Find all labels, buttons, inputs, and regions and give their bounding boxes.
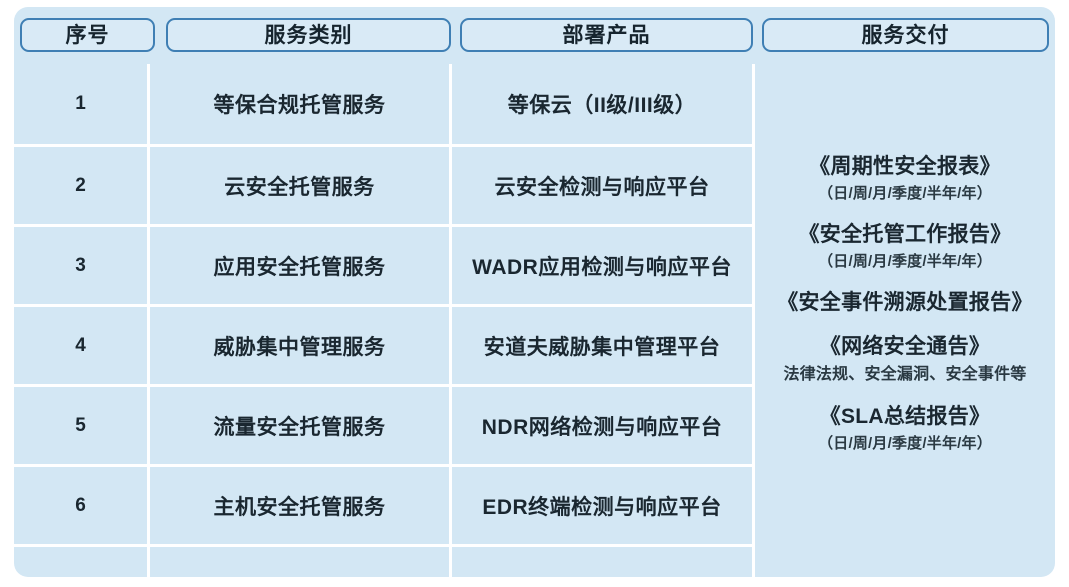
table-row: 3 — [14, 227, 147, 304]
table-row: 6 — [14, 467, 147, 544]
table-row: 4 — [14, 307, 147, 384]
service-delivery-table: 序号 服务类别 部署产品 服务交付 1 等保合规托管服务 等保 — [14, 7, 1055, 577]
cell-category-label: 主机安全托管服务 — [214, 491, 386, 521]
grid-hline-6 — [14, 544, 752, 547]
cell-index: 3 — [75, 255, 86, 277]
cell-category-label: 等保合规托管服务 — [214, 89, 386, 119]
cell-category-label: 应用安全托管服务 — [214, 251, 386, 281]
table-row: 2 — [14, 147, 147, 224]
column-header-product-label: 部署产品 — [563, 25, 651, 46]
cell-product: EDR终端检测与响应平台 — [452, 467, 752, 544]
column-header-index-label: 序号 — [66, 25, 110, 46]
cell-product: 云安全检测与响应平台 — [452, 147, 752, 224]
cell-category: 主机安全托管服务 — [150, 467, 449, 544]
delivery-item-title: 《SLA总结报告》 — [818, 404, 992, 430]
table-row: 5 — [14, 387, 147, 464]
delivery-item-subtitle: （日/周/月/季度/半年/年） — [799, 251, 1012, 272]
table-row: 1 — [14, 64, 147, 144]
delivery-item-subtitle: 法律法规、安全漏洞、安全事件等 — [783, 364, 1026, 386]
delivery-item-title: 《周期性安全报表》 — [809, 154, 1001, 180]
cell-product-label: EDR终端检测与响应平台 — [482, 491, 721, 521]
cell-product: 安道夫威胁集中管理平台 — [452, 307, 752, 384]
delivery-item-subtitle: （日/周/月/季度/半年/年） — [809, 183, 1001, 204]
cell-product: NDR网络检测与响应平台 — [452, 387, 752, 464]
cell-category: 流量安全托管服务 — [150, 387, 449, 464]
cell-product-label: NDR网络检测与响应平台 — [482, 411, 723, 441]
cell-category-label: 云安全托管服务 — [224, 171, 375, 201]
column-header-index: 序号 — [20, 18, 155, 52]
cell-category: 威胁集中管理服务 — [150, 307, 449, 384]
cell-index: 2 — [75, 175, 86, 197]
delivery-item-title: 《安全托管工作报告》 — [799, 222, 1012, 248]
column-header-category-label: 服务类别 — [265, 25, 353, 46]
delivery-item: 《SLA总结报告》 （日/周/月/季度/半年/年） — [818, 404, 992, 454]
table-body: 1 等保合规托管服务 等保云（II级/III级） 2 云安全托管服务 云安全检测… — [14, 64, 1055, 577]
cell-delivery-merged: 《周期性安全报表》 （日/周/月/季度/半年/年） 《安全托管工作报告》 （日/… — [755, 64, 1055, 544]
cell-index: 5 — [75, 415, 86, 437]
cell-product-label: 云安全检测与响应平台 — [495, 171, 710, 201]
delivery-item-subtitle: （日/周/月/季度/半年/年） — [818, 433, 992, 454]
cell-product-label: WADR应用检测与响应平台 — [472, 251, 732, 281]
cell-index: 6 — [75, 495, 86, 517]
cell-index: 1 — [75, 93, 86, 115]
cell-category: 应用安全托管服务 — [150, 227, 449, 304]
delivery-item-title: 《网络安全通告》 — [783, 334, 1026, 360]
column-header-delivery-label: 服务交付 — [862, 25, 950, 46]
cell-index: 4 — [75, 335, 86, 357]
cell-product-label: 等保云（II级/III级） — [508, 89, 697, 119]
delivery-item: 《安全事件溯源处置报告》 — [777, 290, 1033, 316]
delivery-item: 《周期性安全报表》 （日/周/月/季度/半年/年） — [809, 154, 1001, 204]
column-header-product: 部署产品 — [460, 18, 753, 52]
cell-category-label: 威胁集中管理服务 — [214, 331, 386, 361]
cell-category: 云安全托管服务 — [150, 147, 449, 224]
cell-category: 等保合规托管服务 — [150, 64, 449, 144]
delivery-item: 《网络安全通告》 法律法规、安全漏洞、安全事件等 — [783, 334, 1026, 386]
delivery-item-title: 《安全事件溯源处置报告》 — [777, 290, 1033, 316]
cell-category-label: 流量安全托管服务 — [214, 411, 386, 441]
column-header-delivery: 服务交付 — [762, 18, 1049, 52]
cell-product: WADR应用检测与响应平台 — [452, 227, 752, 304]
column-header-category: 服务类别 — [166, 18, 451, 52]
cell-product: 等保云（II级/III级） — [452, 64, 752, 144]
table-header-row: 序号 服务类别 部署产品 服务交付 — [14, 7, 1055, 64]
delivery-item: 《安全托管工作报告》 （日/周/月/季度/半年/年） — [799, 222, 1012, 272]
cell-product-label: 安道夫威胁集中管理平台 — [484, 331, 721, 361]
